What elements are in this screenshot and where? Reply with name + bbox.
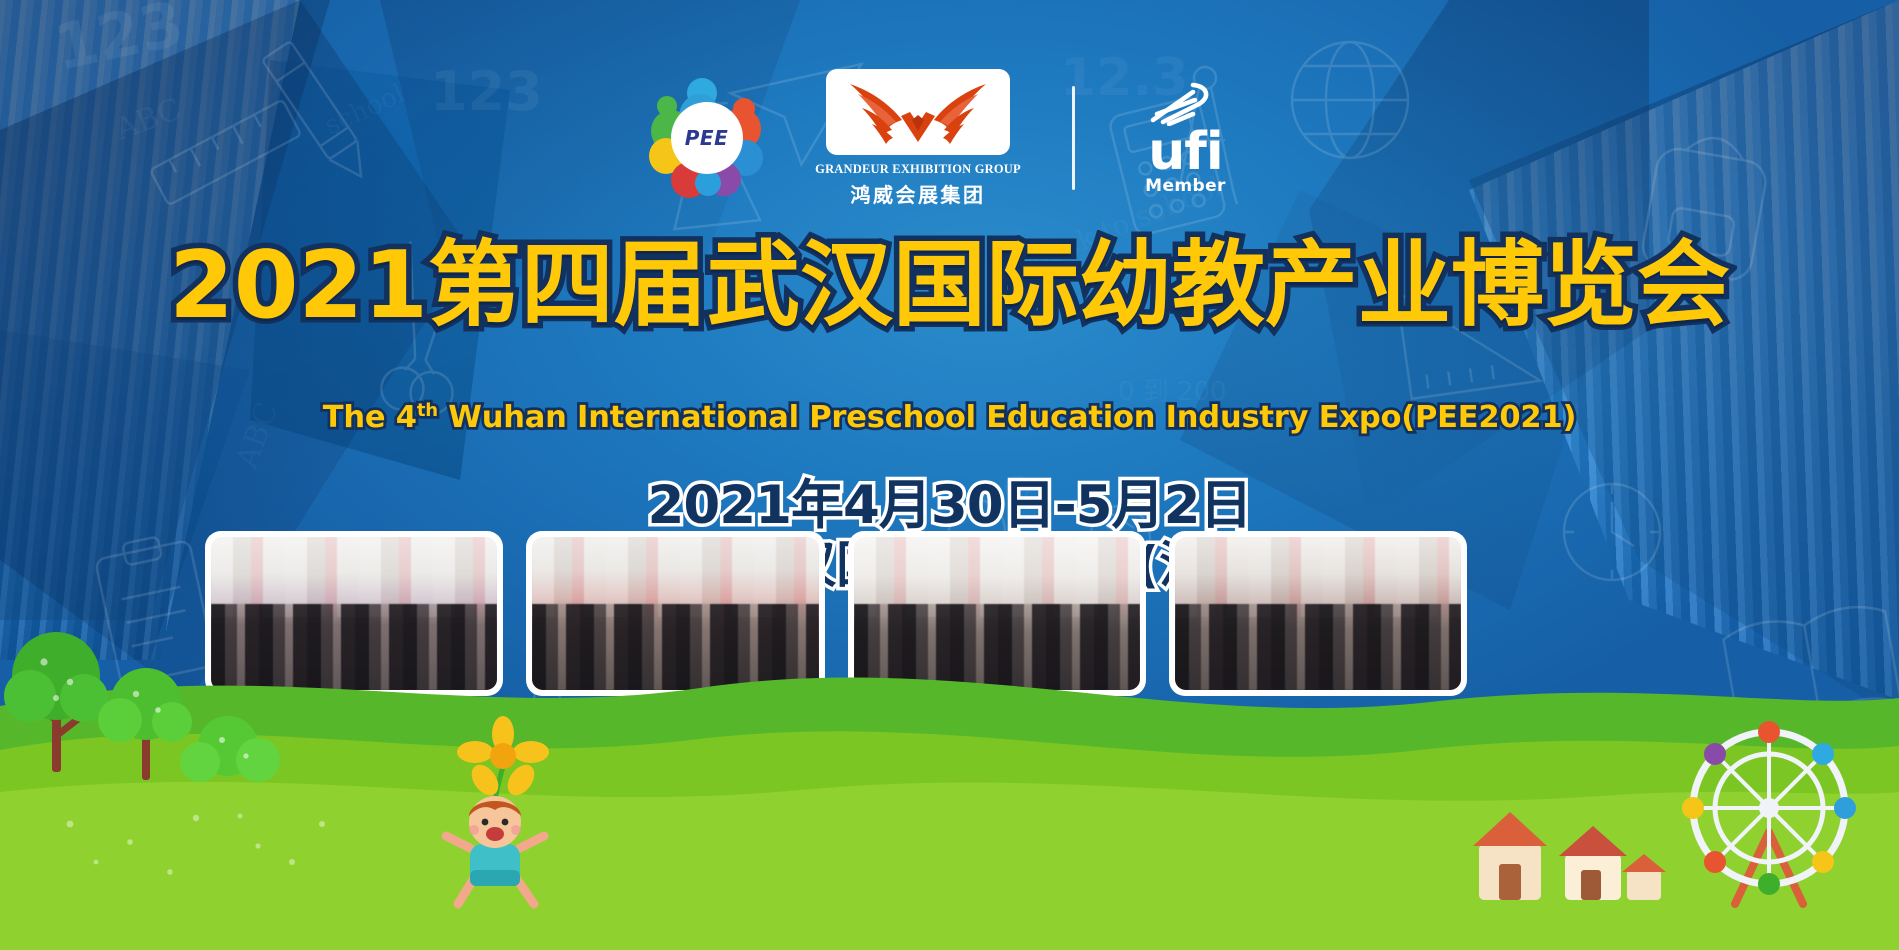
page-title: 2021第四届武汉国际幼教产业博览会 bbox=[0, 238, 1899, 333]
cartoon-houses bbox=[1469, 788, 1669, 908]
ufi-logo-block: ufi Member bbox=[1121, 80, 1251, 195]
cartoon-trees bbox=[0, 600, 330, 830]
grandeur-logo-block: GRANDEUR EXHIBITION GROUP 鸿威会展集团 bbox=[811, 69, 1026, 208]
subtitle-part-2: Wuhan International Preschool Education … bbox=[438, 400, 1576, 435]
cartoon-child bbox=[440, 792, 550, 922]
ufi-wordmark: ufi bbox=[1148, 128, 1222, 177]
pee-logo-center: PEE bbox=[671, 102, 743, 174]
header-logo-row: PEE bbox=[0, 68, 1899, 208]
phoenix-wings-w-mark bbox=[838, 76, 998, 148]
pee-logo-text: PEE bbox=[685, 126, 728, 150]
subtitle-ordinal-suffix: th bbox=[417, 400, 438, 421]
banner-stage: 123 123 12.3 ABC ABC ABC school back to … bbox=[0, 0, 1899, 950]
grandeur-english-name: GRANDEUR EXHIBITION GROUP bbox=[815, 162, 1021, 177]
ufi-member-label: Member bbox=[1145, 176, 1226, 196]
subtitle-part-1: The 4 bbox=[323, 400, 417, 435]
ferris-wheel bbox=[1669, 712, 1869, 912]
vertical-divider bbox=[1072, 86, 1075, 190]
ufi-swoosh-icon bbox=[1149, 80, 1223, 126]
pee-flower-logo: PEE bbox=[649, 78, 765, 198]
grandeur-chinese-name: 鸿威会展集团 bbox=[851, 179, 986, 208]
subtitle-english: The 4th Wuhan International Preschool Ed… bbox=[0, 400, 1899, 435]
grandeur-logo-card bbox=[826, 69, 1010, 155]
